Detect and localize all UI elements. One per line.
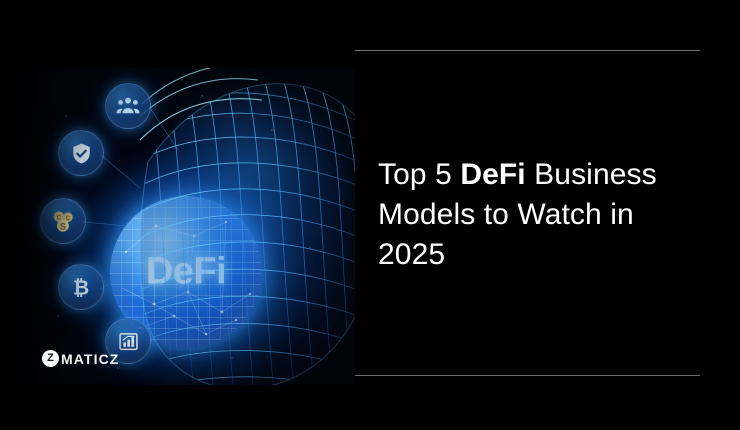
coins-icon: S C C <box>40 198 86 244</box>
defi-banner: DeFi <box>0 0 740 430</box>
shield-check-icon <box>58 130 104 176</box>
group-icon <box>105 83 151 129</box>
svg-text:C: C <box>65 215 70 221</box>
svg-text:S: S <box>59 221 65 231</box>
brand-logo: Z MATICZ <box>42 350 119 367</box>
bitcoin-icon: ₿ <box>58 264 104 310</box>
bottom-divider <box>355 375 700 376</box>
brand-mark-icon: Z <box>42 350 59 367</box>
headline-panel: Top 5 DeFi Business Models to Watch in 2… <box>355 0 740 430</box>
globe-label-defi: DeFi <box>110 251 262 294</box>
svg-text:₿: ₿ <box>73 277 89 299</box>
headline-part-1: Top 5 <box>378 158 460 191</box>
hero-image-panel: DeFi <box>22 68 355 385</box>
top-divider <box>355 50 700 51</box>
headline-emphasis: DeFi <box>460 158 525 191</box>
brand-wordmark: MATICZ <box>61 351 119 367</box>
page-title: Top 5 DeFi Business Models to Watch in 2… <box>378 155 708 275</box>
svg-text:C: C <box>56 214 61 221</box>
